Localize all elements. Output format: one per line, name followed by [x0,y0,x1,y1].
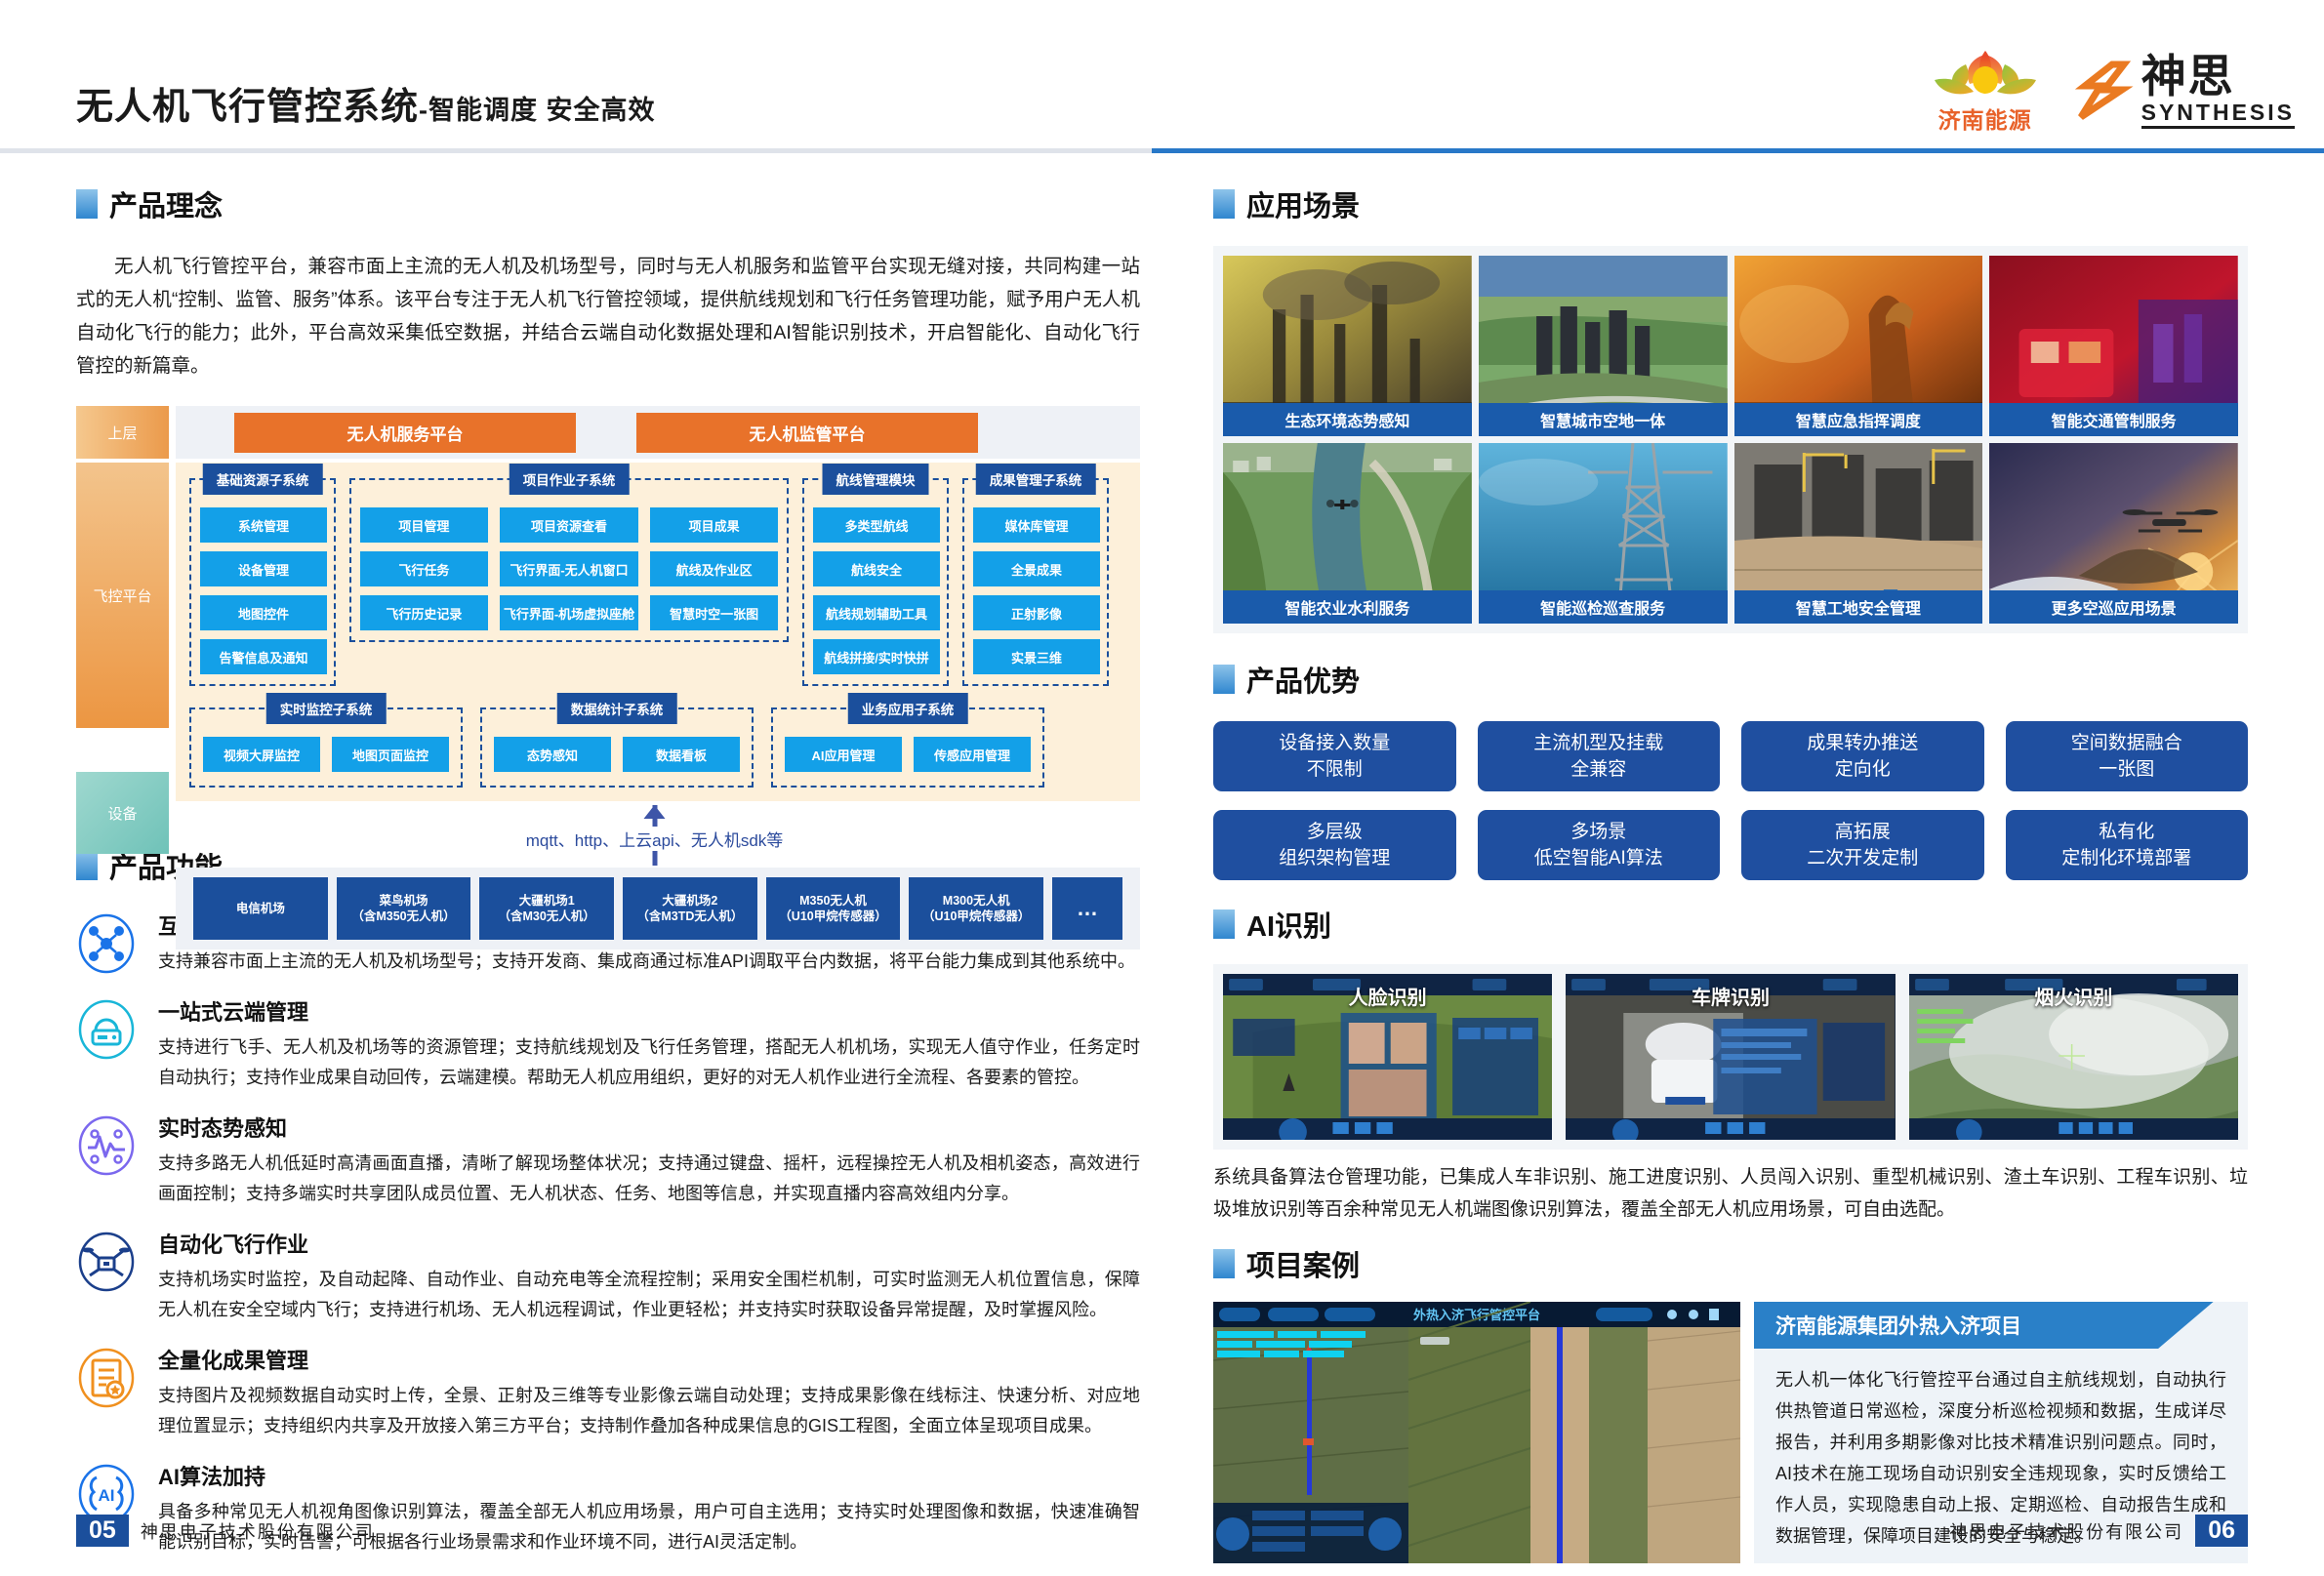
arch-group-project-operation: 项目作业子系统 项目管理 项目资源查看 项目成果 飞行任务 飞行界面-无人机窗口… [349,478,789,642]
page-number-right: 06 [2195,1515,2248,1547]
synthesis-en-label: SYNTHESIS [2141,101,2295,129]
device-line1: M300无人机 [943,893,1010,909]
scenario-card[interactable]: 智慧城市空地一体 [1479,256,1728,436]
arch-top-platform-1: 无人机监管平台 [636,413,978,453]
page-title-main: 无人机飞行管控系统 [76,87,419,128]
logo-group: 济南能源 神思 SYNTHESIS [1923,47,2295,135]
header-rule-right [1152,148,2324,153]
section-title: 产品优势 [1246,659,1360,700]
cloud-server-icon [76,999,137,1060]
arch-cell: 媒体库管理 [973,507,1100,543]
drone-icon [76,1232,137,1292]
arch-top-band: 无人机服务平台 无人机监管平台 [176,406,1140,459]
section-mark-icon [1213,909,1235,939]
arch-group-title: 业务应用子系统 [848,693,968,724]
arch-device-band: 电信机场 菜鸟机场 （含M350无人机） 大疆机场1 （含M30无人机） [176,868,1140,950]
arch-protocol-label: mqtt、http、上云api、无人机sdk等 [518,827,792,851]
arch-cell: 视频大屏监控 [203,737,320,772]
advantage-line2: 组织架构管理 [1279,845,1390,871]
section-title: 产品理念 [109,183,223,224]
arch-cell: 态势感知 [494,737,611,772]
advantage-line2: 一张图 [2099,756,2154,783]
arch-cell: 系统管理 [200,507,327,543]
scenario-grid-row2: 智能农业水利服务 [1223,443,2238,624]
device-line2: （U10甲烷传感器） [779,909,886,924]
advantage-line1: 成果转办推送 [1807,730,1918,756]
advantage-line1: 空间数据融合 [2071,730,2182,756]
product-advantages-grid: 设备接入数量不限制 主流机型及挂载全兼容 成果转办推送定向化 空间数据融合一张图… [1213,721,2248,880]
arch-cell: 项目资源查看 [500,507,638,543]
footer-company-right: 神思电子技术股份有限公司 [1949,1518,2183,1544]
arch-cell: 告警信息及通知 [200,639,327,674]
advantage-box: 设备接入数量不限制 [1213,721,1456,791]
feature-title: 全量化成果管理 [158,1344,1140,1375]
arch-protocol-link: mqtt、http、上云api、无人机sdk等 [169,805,1140,868]
footer-left: 05 神思电子技术股份有限公司 [76,1515,375,1547]
feature-title: 自动化飞行作业 [158,1228,1140,1259]
arch-device-2: 大疆机场1 （含M30无人机） [479,877,614,940]
arch-cell: 航线规划辅助工具 [813,595,940,630]
section-title: AI识别 [1246,904,1331,945]
jinan-energy-label: 济南能源 [1938,101,2032,135]
product-function-list: 互联互通 支持兼容市面上主流的无人机及机场型号；支持开发商、集成商通过标准API… [76,909,1140,1557]
ai-card-grid: 人脸识别 [1223,974,2238,1140]
page-title-sub: -智能调度 安全高效 [419,96,656,125]
arch-device-more: … [1052,877,1122,940]
svg-text:AI: AI [99,1486,115,1505]
feature-item-cloud-management: 一站式云端管理 支持进行飞手、无人机及机场等的资源管理；支持航线规划及飞行任务管… [76,995,1140,1093]
arch-group-title: 数据统计子系统 [557,693,677,724]
advantage-line1: 多场景 [1570,819,1626,845]
section-heading-project-case: 项目案例 [1213,1243,2248,1284]
arch-device-3: 大疆机场2 （含M3TD无人机） [623,877,757,940]
arch-group-result-management: 成果管理子系统 媒体库管理 全景成果 正射影像 实景三维 [962,478,1109,686]
footer-right: 神思电子技术股份有限公司 06 [1949,1515,2248,1547]
ai-card-license-plate-recognition[interactable]: 车牌识别 [1566,974,1895,1140]
arch-side-label-platform: 飞控平台 [76,463,169,728]
ai-card-face-recognition[interactable]: 人脸识别 [1223,974,1552,1140]
page-header: 无人机飞行管控系统-智能调度 安全高效 [0,0,2324,156]
feature-desc: 支持机场实时监控，及自动起降、自动作业、自动充电等全流程控制；采用安全围栏机制，… [158,1265,1140,1325]
scenario-caption: 生态环境态势感知 [1223,403,1472,436]
section-mark-icon [1213,189,1235,219]
scenario-card[interactable]: 智能交通管制服务 [1989,256,2238,436]
arch-group-title: 成果管理子系统 [976,464,1096,495]
arch-group-title: 航线管理模块 [823,464,929,495]
arch-device-1: 菜鸟机场 （含M350无人机） [337,877,471,940]
advantage-box: 多场景低空智能AI算法 [1478,810,1721,880]
advantage-line1: 高拓展 [1835,819,1891,845]
scenario-caption: 智慧工地安全管理 [1734,590,1983,624]
section-heading-product-concept: 产品理念 [76,183,1140,224]
arch-cell: 航线拼接/实时快拼 [813,639,940,674]
header-rule-left [0,148,1152,153]
arch-group-row-1: 基础资源子系统 系统管理 设备管理 地图控件 告警信息及通知 项目作业子系统 项… [189,478,1126,686]
arch-device-0: 电信机场 [193,877,328,940]
feature-desc: 支持多路无人机低延时高清画面直播，清晰了解现场整体状况；支持通过键盘、摇杆，远程… [158,1149,1140,1209]
advantage-line2: 定向化 [1835,756,1891,783]
arch-side-label-device: 设备 [76,772,169,854]
page-title: 无人机飞行管控系统-智能调度 安全高效 [76,76,656,130]
brochure-page: 无人机飞行管控系统-智能调度 安全高效 [0,0,2324,1576]
feature-title: AI算法加持 [158,1460,1140,1491]
advantage-line1: 私有化 [2099,819,2154,845]
scenario-caption: 智能巡检巡查服务 [1479,590,1728,624]
section-heading-product-advantages: 产品优势 [1213,659,2248,700]
arch-cell: 飞行历史记录 [360,595,488,630]
arch-cell: 正射影像 [973,595,1100,630]
device-line2: （U10甲烷传感器） [922,909,1030,924]
project-case-screenshot[interactable]: 外热入济飞行管控平台 [1213,1302,1740,1563]
product-concept-paragraph: 无人机飞行管控平台，兼容市面上主流的无人机及机场型号，同时与无人机服务和监管平台… [76,250,1140,383]
section-mark-icon [1213,665,1235,694]
ai-card-smoke-fire-recognition[interactable]: 烟火识别 [1909,974,2238,1140]
arch-group-title: 项目作业子系统 [510,464,630,495]
section-title: 项目案例 [1246,1243,1360,1284]
arch-group-basic-resource: 基础资源子系统 系统管理 设备管理 地图控件 告警信息及通知 [189,478,336,686]
advantage-line2: 低空智能AI算法 [1534,845,1663,871]
feature-item-result-management: 全量化成果管理 支持图片及视频数据自动实时上传，全景、正射及三维等专业影像云端自… [76,1344,1140,1441]
section-title: 应用场景 [1246,183,1360,224]
advantage-line2: 不限制 [1307,756,1363,783]
device-line1: 菜鸟机场 [380,893,428,909]
device-line1: 大疆机场2 [662,893,717,909]
scenario-caption: 智慧应急指挥调度 [1734,403,1983,436]
arch-cell: 项目成果 [650,507,778,543]
advantage-line2: 二次开发定制 [1807,845,1918,871]
arch-cell: 飞行界面-无人机窗口 [500,551,638,586]
scenario-card[interactable]: 智慧应急指挥调度 [1734,256,1983,436]
feature-title: 实时态势感知 [158,1111,1140,1143]
arch-cell: AI应用管理 [785,737,902,772]
advantage-line1: 主流机型及挂载 [1533,730,1663,756]
arch-cell: 智慧时空一张图 [650,595,778,630]
ai-card-caption: 烟火识别 [1909,982,2238,1010]
scenario-caption: 智能农业水利服务 [1223,590,1472,624]
feature-desc: 支持兼容市面上主流的无人机及机场型号；支持开发商、集成商通过标准API调取平台内… [158,947,1140,977]
advantage-box: 主流机型及挂载全兼容 [1478,721,1721,791]
synthesis-cn-label: 神思 [2141,54,2295,99]
device-line1: 电信机场 [236,901,285,916]
feature-title: 一站式云端管理 [158,995,1140,1027]
section-mark-icon [76,189,98,219]
feature-desc: 支持进行飞手、无人机及机场等的资源管理；支持航线规划及飞行任务管理，搭配无人机机… [158,1032,1140,1093]
synthesis-mark-icon [2073,61,2134,121]
arch-group-title: 基础资源子系统 [203,464,323,495]
synthesis-logo: 神思 SYNTHESIS [2073,54,2295,129]
ai-recognition-gallery: 人脸识别 [1213,964,2248,1150]
arch-cell: 数据看板 [623,737,740,772]
ai-card-caption: 人脸识别 [1223,982,1552,1010]
pulse-monitor-icon [76,1115,137,1176]
scenario-caption: 智能交通管制服务 [1989,403,2238,436]
arch-group-business-application: 业务应用子系统 AI应用管理 传感应用管理 [771,707,1044,788]
device-line1: 大疆机场1 [519,893,575,909]
arch-cell: 项目管理 [360,507,488,543]
arch-cell: 设备管理 [200,551,327,586]
certificate-icon [76,1348,137,1408]
project-case-card-title: 济南能源集团外热入济项目 [1754,1302,2214,1349]
arch-device-5: M300无人机 （U10甲烷传感器） [909,877,1043,940]
scenario-caption: 更多空巡应用场景 [1989,590,2238,624]
arch-group-route-management: 航线管理模块 多类型航线 航线安全 航线规划辅助工具 航线拼接/实时快拼 [802,478,949,686]
device-line2: （含M30无人机） [499,909,595,924]
scenario-grid-row1: 生态环境态势感知 [1223,256,2238,436]
arch-cell: 地图页面监控 [332,737,449,772]
application-scenarios-gallery: 生态环境态势感知 [1213,246,2248,633]
footer-company-left: 神思电子技术股份有限公司 [141,1518,375,1544]
scenario-card[interactable]: 智慧工地安全管理 [1734,443,1983,624]
arch-platform-body: 基础资源子系统 系统管理 设备管理 地图控件 告警信息及通知 项目作业子系统 项… [176,463,1140,801]
section-mark-icon [1213,1249,1235,1278]
advantage-line2: 全兼容 [1570,756,1626,783]
device-line1: M350无人机 [799,893,867,909]
advantage-line1: 设备接入数量 [1279,730,1390,756]
lotus-icon [1927,47,2044,100]
arch-cell: 航线及作业区 [650,551,778,586]
section-heading-application-scenarios: 应用场景 [1213,183,2248,224]
scenario-card[interactable]: 生态环境态势感知 [1223,256,1472,436]
arch-side-label-top: 上层 [76,406,169,459]
architecture-diagram: 上层 飞控平台 设备 无人机服务平台 无人机监管平台 基础资源子系统 系统管理 [76,406,1140,816]
arch-group-title: 实时监控子系统 [266,693,387,724]
left-column: 产品理念 无人机飞行管控平台，兼容市面上主流的无人机及机场型号，同时与无人机服务… [76,183,1140,1576]
arch-group-realtime-monitor: 实时监控子系统 视频大屏监控 地图页面监控 [189,707,463,788]
jinan-energy-logo: 济南能源 [1923,47,2048,135]
advantage-box: 多层级组织架构管理 [1213,810,1456,880]
ai-card-caption: 车牌识别 [1566,982,1895,1010]
scenario-card[interactable]: 智能巡检巡查服务 [1479,443,1728,624]
arch-cell: 多类型航线 [813,507,940,543]
arch-cell: 地图控件 [200,595,327,630]
arch-cell: 飞行任务 [360,551,488,586]
scenario-card[interactable]: 更多空巡应用场景 [1989,443,2238,624]
advantage-line1: 多层级 [1307,819,1363,845]
advantage-box: 成果转办推送定向化 [1741,721,1984,791]
page-number-left: 05 [76,1515,129,1547]
ai-recognition-note: 系统具备算法仓管理功能，已集成人车非识别、施工进度识别、人员闯入识别、重型机械识… [1213,1161,2248,1226]
arch-device-4: M350无人机 （U10甲烷传感器） [766,877,901,940]
right-column: 应用场景 [1213,183,2248,1563]
arch-group-data-statistics: 数据统计子系统 态势感知 数据看板 [480,707,754,788]
arch-top-platform-0: 无人机服务平台 [234,413,576,453]
advantage-box: 私有化定制化环境部署 [2006,810,2249,880]
arch-cell: 全景成果 [973,551,1100,586]
section-heading-ai-recognition: AI识别 [1213,904,2248,945]
arch-cell: 飞行界面-机场虚拟座舱 [500,595,638,630]
scenario-caption: 智慧城市空地一体 [1479,403,1728,436]
arch-cell: 传感应用管理 [914,737,1031,772]
advantage-box: 空间数据融合一张图 [2006,721,2249,791]
arch-group-row-2: 实时监控子系统 视频大屏监控 地图页面监控 数据统计子系统 态势感知 数据看板 … [189,707,1126,788]
advantage-line2: 定制化环境部署 [2061,845,2191,871]
arch-cell: 航线安全 [813,551,940,586]
feature-item-situational-awareness: 实时态势感知 支持多路无人机低延时高清画面直播，清晰了解现场整体状况；支持通过键… [76,1111,1140,1209]
device-line2: （含M350无人机） [351,909,455,924]
device-line2: （含M3TD无人机） [636,909,743,924]
advantage-box: 高拓展二次开发定制 [1741,810,1984,880]
feature-item-automated-flight: 自动化飞行作业 支持机场实时监控，及自动起降、自动作业、自动充电等全流程控制；采… [76,1228,1140,1325]
feature-desc: 支持图片及视频数据自动实时上传，全景、正射及三维等专业影像云端自动处理；支持成果… [158,1381,1140,1441]
scenario-card[interactable]: 智能农业水利服务 [1223,443,1472,624]
arch-cell: 实景三维 [973,639,1100,674]
